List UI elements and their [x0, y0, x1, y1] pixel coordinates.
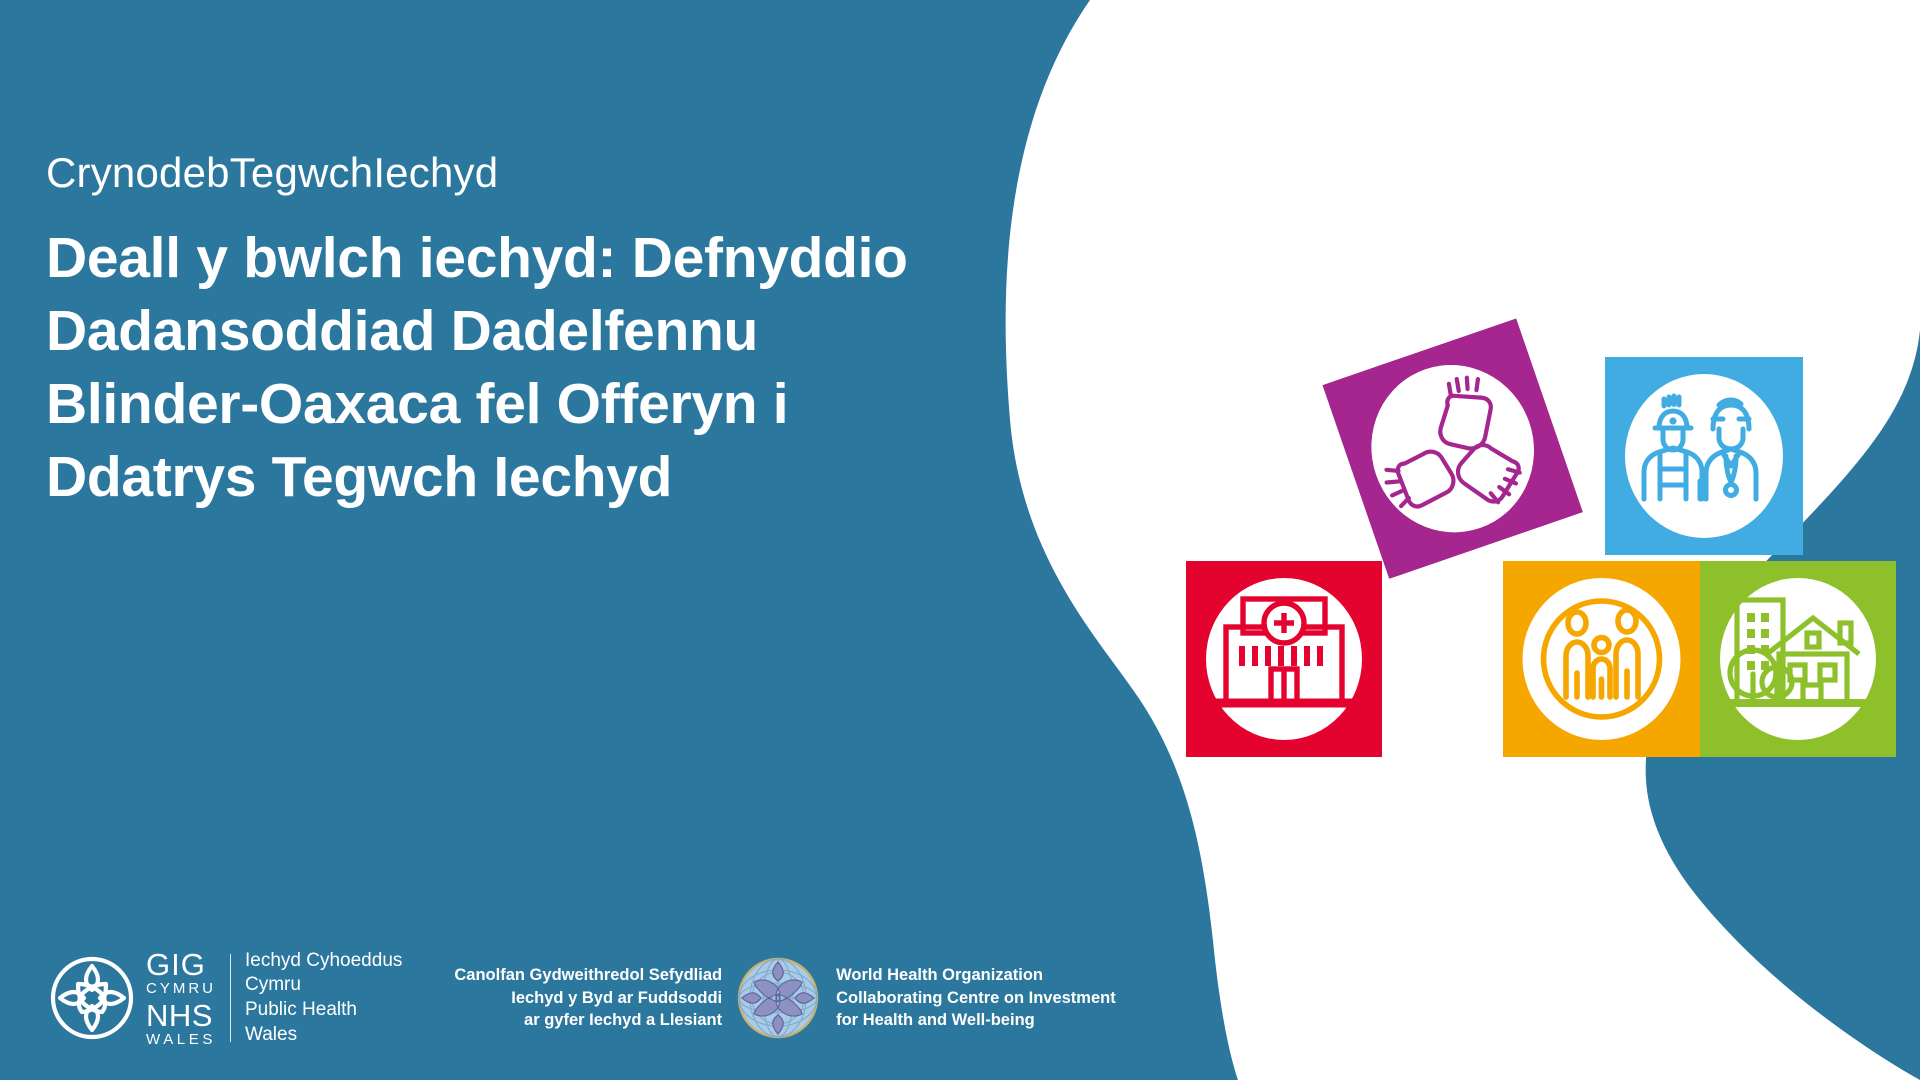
title-slide: CrynodebTegwchIechyd Deall y bwlch iechy…: [0, 0, 1920, 1080]
tile-family: [1503, 561, 1700, 762]
who-welsh-text: Canolfan Gydweithredol Sefydliad Iechyd …: [454, 964, 736, 1032]
tile-hospital: [1186, 561, 1382, 762]
nhs-gig-line1: GIG: [146, 949, 216, 980]
phw-cy-line1: Iechyd Cyhoeddus: [245, 949, 402, 974]
workers-icon: [1605, 357, 1803, 555]
three-hands-icon: [1322, 318, 1583, 579]
nhs-gig-line4: WALES: [146, 1032, 216, 1047]
nhs-divider: [230, 954, 231, 1042]
public-health-wales-wordmark: Iechyd Cyhoeddus Cymru Public Health Wal…: [231, 952, 402, 1044]
hospital-icon: [1186, 561, 1382, 757]
who-globe-knot-emblem-icon: [736, 956, 820, 1040]
celtic-knot-icon: [44, 950, 140, 1046]
icon-tile-group: [0, 0, 1920, 1080]
phw-en-line2: Wales: [245, 1023, 402, 1048]
housing-icon: [1700, 561, 1896, 757]
footer-logo-strip: GIG CYMRU NHS WALES Iechyd Cyhoeddus Cym…: [44, 942, 1116, 1054]
phw-cy-line2: Cymru: [245, 973, 402, 998]
nhs-wales-logo: GIG CYMRU NHS WALES Iechyd Cyhoeddus Cym…: [44, 947, 402, 1049]
phw-en-line1: Public Health: [245, 998, 402, 1023]
who-collaborating-centre-logo: Canolfan Gydweithredol Sefydliad Iechyd …: [454, 948, 1115, 1048]
tile-housing: [1700, 561, 1896, 762]
family-icon: [1503, 561, 1700, 757]
tile-workforce: [1605, 357, 1803, 560]
nhs-gig-wordmark: GIG CYMRU NHS WALES: [146, 952, 230, 1044]
tile-collaboration: [1322, 318, 1584, 583]
who-english-text: World Health Organization Collaborating …: [820, 964, 1116, 1032]
nhs-gig-line3: NHS: [146, 1000, 216, 1031]
nhs-gig-line2: CYMRU: [146, 981, 216, 996]
